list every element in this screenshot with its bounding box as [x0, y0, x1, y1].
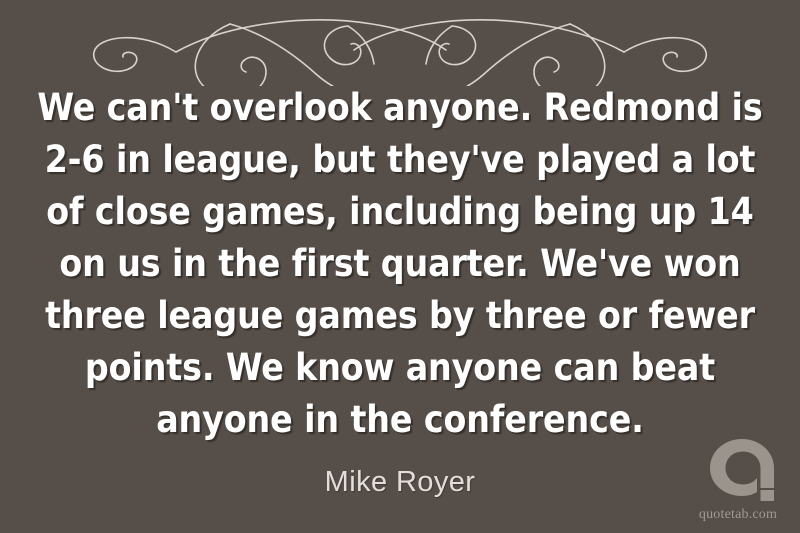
decorative-flourish-ornament	[80, 8, 720, 86]
quote-text: We can't overlook anyone. Redmond is 2-6…	[36, 82, 764, 446]
quote-author: Mike Royer	[0, 466, 800, 499]
watermark: quotetab.com	[690, 437, 786, 525]
watermark-label: quotetab.com	[690, 507, 786, 523]
logo-stem	[761, 477, 775, 488]
quotetab-logo-icon	[704, 437, 780, 501]
ornament-right-half	[354, 20, 706, 86]
ornament-left-half	[94, 20, 446, 86]
quote-card: We can't overlook anyone. Redmond is 2-6…	[0, 0, 800, 533]
logo-square-dot	[761, 490, 775, 501]
